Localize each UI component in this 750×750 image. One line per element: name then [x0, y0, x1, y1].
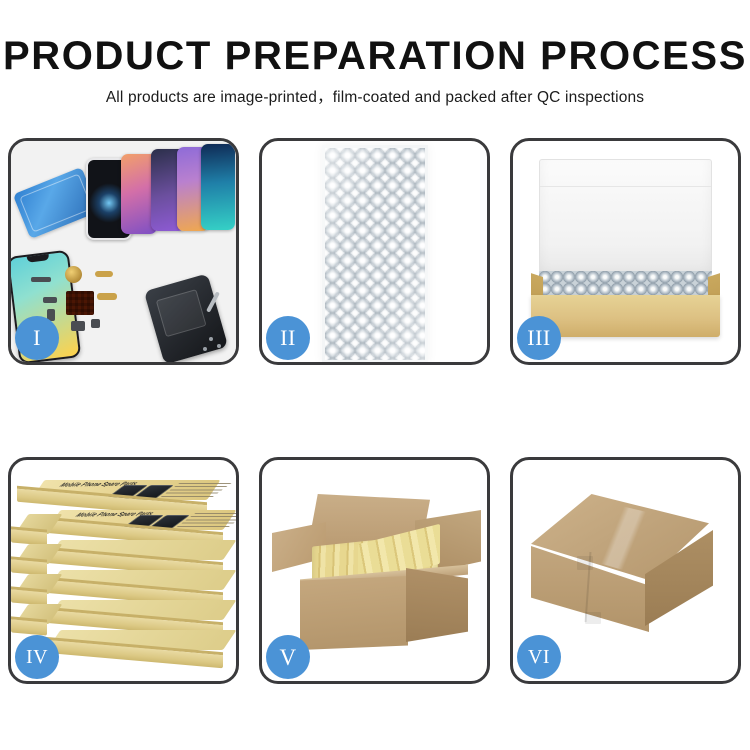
phone-back-housing-icon — [144, 273, 228, 362]
page-title: PRODUCT PREPARATION PROCESS — [0, 34, 750, 78]
retail-box-item-rear — [11, 604, 51, 634]
step-6-badge: VI — [517, 635, 561, 679]
part-camera-icon — [71, 321, 85, 331]
step-1-badge: I — [15, 316, 59, 360]
process-step-6: VI — [510, 457, 741, 684]
gradient-phone-icon-4 — [201, 144, 235, 230]
part-connector-icon — [91, 319, 100, 328]
step-2-numeral: II — [280, 327, 296, 349]
retail-box-item-rear — [11, 544, 51, 574]
retail-box-item — [33, 570, 229, 600]
part-logic-board-icon — [66, 291, 94, 315]
process-step-5: V — [259, 457, 490, 684]
bubble-wrap-pouch-icon — [322, 145, 428, 362]
step-2-badge: II — [266, 316, 310, 360]
step-5-badge: V — [266, 635, 310, 679]
page-header: PRODUCT PREPARATION PROCESS All products… — [0, 0, 750, 108]
part-flex-cable-icon-1 — [95, 271, 113, 277]
carton-front-panel — [300, 576, 408, 650]
process-step-1: I — [8, 138, 239, 365]
retail-box-item-rear — [11, 574, 51, 604]
step-4-badge: IV — [15, 635, 59, 679]
part-speaker-icon — [65, 266, 82, 283]
step-1-numeral: I — [33, 327, 41, 349]
process-step-2: II — [259, 138, 490, 365]
part-bracket-icon-1 — [43, 297, 57, 303]
step-6-numeral: VI — [528, 647, 550, 667]
step-4-numeral: IV — [26, 647, 48, 667]
step-3-numeral: III — [527, 327, 550, 349]
part-battery-icon — [31, 277, 51, 282]
part-screw-icon-1 — [209, 337, 213, 341]
process-step-grid: I II — [8, 138, 742, 684]
sealed-shipping-carton-icon — [527, 494, 724, 661]
step-5-numeral: V — [279, 646, 296, 669]
carton-hand-hole-bottom — [585, 612, 601, 624]
product-preparation-page: PRODUCT PREPARATION PROCESS All products… — [0, 0, 750, 750]
carton-right-panel — [406, 568, 468, 642]
retail-box-item — [33, 630, 229, 660]
box-lid-icon — [539, 159, 712, 281]
part-flex-cable-icon-2 — [97, 293, 117, 300]
process-step-4: Mobile Phone Spare Parts Mobile Phone Sp… — [8, 457, 239, 684]
part-screw-icon-2 — [217, 344, 221, 348]
part-screw-icon-3 — [203, 347, 207, 351]
page-subtitle: All products are image-printed，film-coat… — [0, 88, 750, 108]
step-3-badge: III — [517, 316, 561, 360]
retail-box-item — [33, 540, 229, 570]
retail-box-item-rear — [11, 514, 51, 544]
retail-box-item — [33, 600, 229, 630]
carton-hand-hole-top — [577, 556, 593, 570]
process-step-3: III — [510, 138, 741, 365]
retail-box-item: Mobile Phone Spare Parts — [17, 480, 213, 510]
retail-box-item: Mobile Phone Spare Parts — [33, 510, 229, 540]
open-kraft-box-icon — [531, 159, 720, 332]
